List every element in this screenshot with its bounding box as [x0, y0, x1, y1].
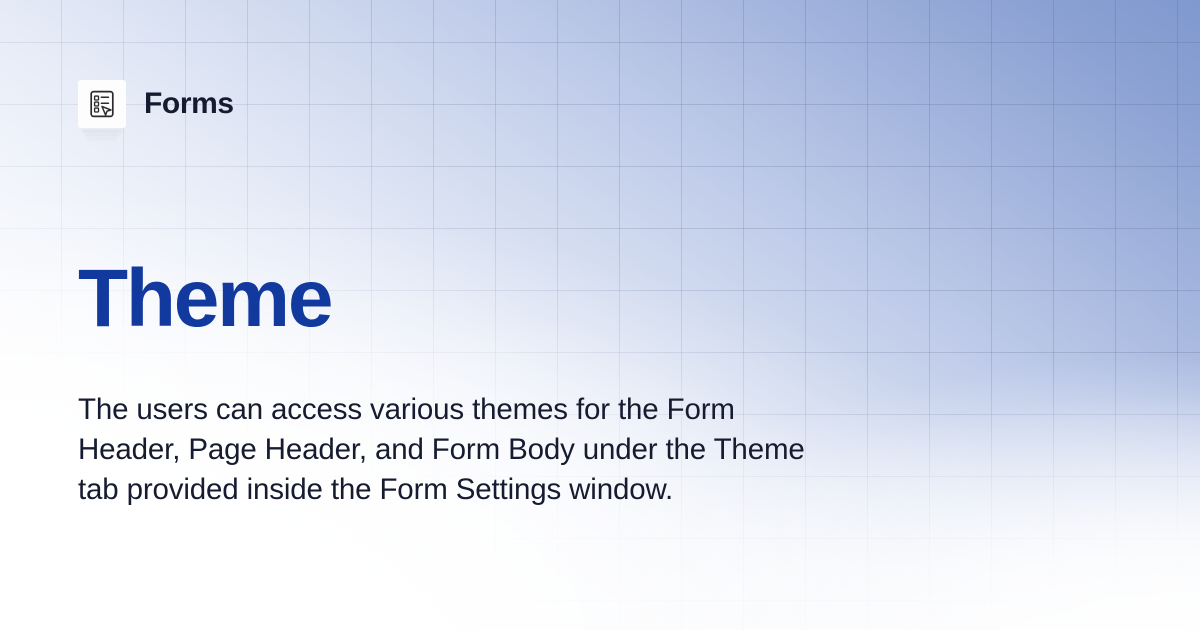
logo-tile	[78, 80, 126, 128]
brand-header: Forms	[78, 80, 234, 128]
form-checklist-cursor-icon	[87, 89, 117, 119]
brand-name: Forms	[144, 89, 234, 119]
page-title: Theme	[78, 258, 331, 340]
logo	[78, 80, 126, 128]
logo-reflection	[80, 130, 124, 142]
page-description: The users can access various themes for …	[78, 390, 838, 510]
forms-theme-banner: Forms Theme The users can access various…	[0, 0, 1200, 630]
